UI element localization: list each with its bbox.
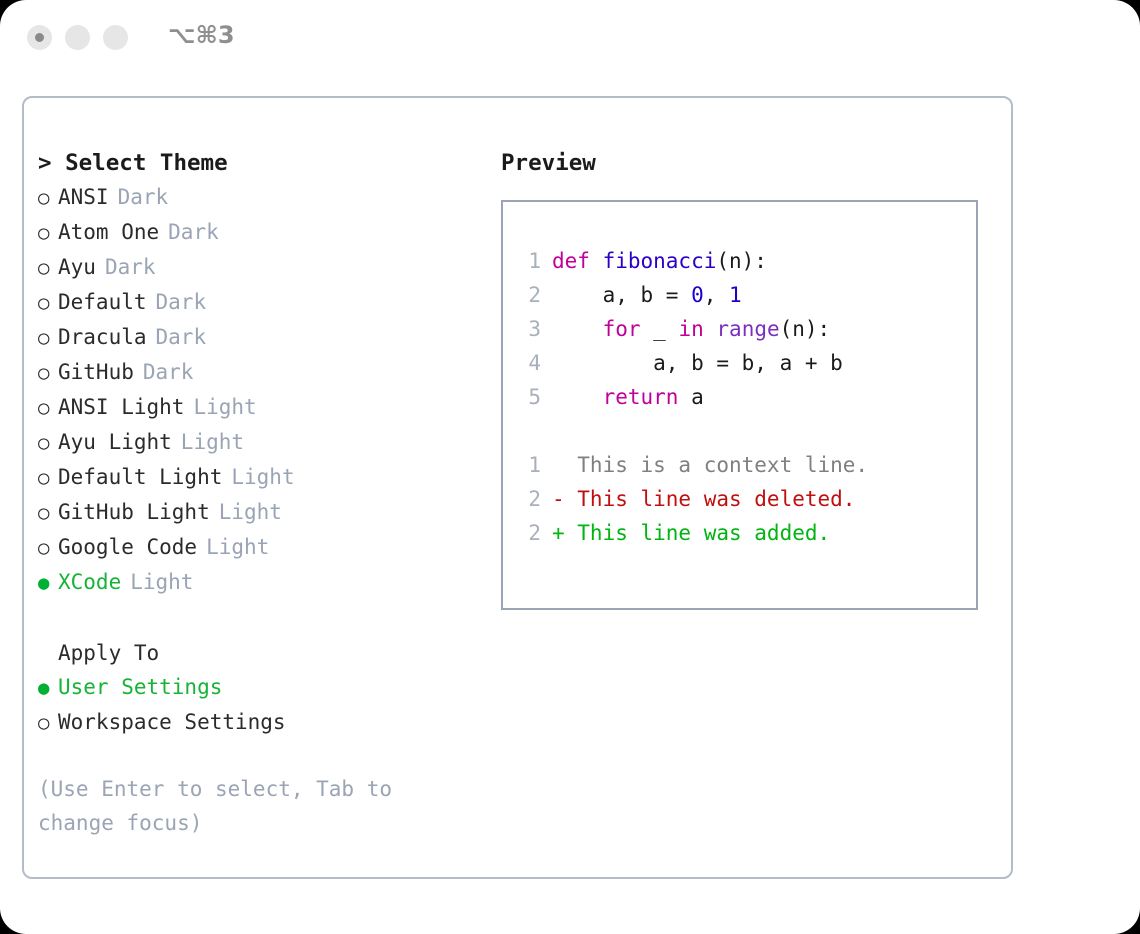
code-token bbox=[552, 380, 603, 414]
code-token bbox=[552, 312, 603, 346]
radio-unselected-icon[interactable]: ○ bbox=[38, 531, 58, 565]
theme-list-item[interactable]: ○Google CodeLight bbox=[38, 530, 478, 565]
apply-to-option-label: User Settings bbox=[58, 670, 222, 704]
theme-name-label: Ayu Light bbox=[58, 425, 172, 459]
code-token: 1 bbox=[729, 278, 742, 312]
theme-list-item[interactable]: ○ANSI LightLight bbox=[38, 390, 478, 425]
theme-variant-tag: Dark bbox=[156, 285, 207, 319]
code-token: _ bbox=[641, 312, 679, 346]
radio-unselected-icon[interactable]: ○ bbox=[38, 286, 58, 320]
diff-line-text: - This line was deleted. bbox=[552, 482, 855, 516]
window-dot-active[interactable] bbox=[27, 25, 52, 50]
keyboard-shortcut-label: ⌥⌘3 bbox=[168, 21, 235, 49]
active-dot-inner bbox=[35, 33, 44, 42]
code-line: 1def fibonacci(n): bbox=[513, 244, 976, 278]
apply-to-section: Apply To ●User Settings○Workspace Settin… bbox=[38, 636, 478, 740]
theme-list-item[interactable]: ○Ayu LightLight bbox=[38, 425, 478, 460]
main-panel: > Select Theme ○ANSIDark○Atom OneDark○Ay… bbox=[22, 96, 1013, 879]
diff-sample: 1 This is a context line.2- This line wa… bbox=[513, 448, 976, 550]
keyboard-hint-line1: (Use Enter to select, Tab to bbox=[38, 772, 438, 806]
radio-selected-icon[interactable]: ● bbox=[38, 671, 58, 705]
theme-list-item[interactable]: ○GitHub LightLight bbox=[38, 495, 478, 530]
theme-list: ○ANSIDark○Atom OneDark○AyuDark○DefaultDa… bbox=[38, 180, 478, 600]
preview-column: Preview 1def fibonacci(n):2 a, b = 0, 13… bbox=[501, 146, 1001, 610]
app-window: ⌥⌘3 > Select Theme ○ANSIDark○Atom OneDar… bbox=[0, 0, 1140, 934]
theme-variant-tag: Light bbox=[206, 530, 269, 564]
code-token: range bbox=[716, 312, 779, 346]
theme-name-label: Google Code bbox=[58, 530, 197, 564]
code-token: , bbox=[704, 278, 729, 312]
theme-list-item[interactable]: ○AyuDark bbox=[38, 250, 478, 285]
radio-unselected-icon[interactable]: ○ bbox=[38, 251, 58, 285]
theme-list-item[interactable]: ○DraculaDark bbox=[38, 320, 478, 355]
theme-name-label: Dracula bbox=[58, 320, 147, 354]
theme-variant-tag: Dark bbox=[143, 355, 194, 389]
radio-unselected-icon[interactable]: ○ bbox=[38, 706, 58, 740]
theme-variant-tag: Light bbox=[231, 460, 294, 494]
theme-variant-tag: Light bbox=[181, 425, 244, 459]
code-token: a, b = bbox=[552, 278, 691, 312]
radio-unselected-icon[interactable]: ○ bbox=[38, 181, 58, 215]
code-token: (n): bbox=[780, 312, 831, 346]
code-line-number: 1 bbox=[513, 244, 541, 278]
theme-variant-tag: Dark bbox=[118, 180, 169, 214]
theme-variant-tag: Light bbox=[193, 390, 256, 424]
code-token: return bbox=[603, 380, 679, 414]
theme-name-label: GitHub Light bbox=[58, 495, 210, 529]
theme-variant-tag: Dark bbox=[156, 320, 207, 354]
radio-unselected-icon[interactable]: ○ bbox=[38, 426, 58, 460]
diff-line-number: 2 bbox=[513, 516, 541, 550]
theme-list-item[interactable]: ○ANSIDark bbox=[38, 180, 478, 215]
window-dot-second[interactable] bbox=[65, 25, 90, 50]
theme-list-item[interactable]: ○DefaultDark bbox=[38, 285, 478, 320]
theme-variant-tag: Light bbox=[219, 495, 282, 529]
theme-name-label: Ayu bbox=[58, 250, 96, 284]
preview-heading: Preview bbox=[501, 146, 1001, 180]
radio-unselected-icon[interactable]: ○ bbox=[38, 356, 58, 390]
radio-unselected-icon[interactable]: ○ bbox=[38, 216, 58, 250]
apply-to-options: ●User Settings○Workspace Settings bbox=[38, 670, 478, 740]
code-token: for bbox=[603, 312, 641, 346]
code-sample: 1def fibonacci(n):2 a, b = 0, 13 for _ i… bbox=[513, 244, 976, 414]
diff-line-number: 1 bbox=[513, 448, 541, 482]
theme-variant-tag: Light bbox=[130, 565, 193, 599]
keyboard-hint: (Use Enter to select, Tab to change focu… bbox=[38, 772, 438, 840]
code-token: a, b = b, a + b bbox=[552, 346, 843, 380]
window-controls bbox=[27, 25, 128, 50]
theme-list-item[interactable]: ○Default LightLight bbox=[38, 460, 478, 495]
theme-list-item[interactable]: ●XCodeLight bbox=[38, 565, 478, 600]
code-spacer bbox=[513, 414, 976, 448]
theme-name-label: ANSI bbox=[58, 180, 109, 214]
code-line-number: 5 bbox=[513, 380, 541, 414]
diff-line-text: This is a context line. bbox=[552, 448, 868, 482]
code-token bbox=[704, 312, 717, 346]
code-line-number: 3 bbox=[513, 312, 541, 346]
code-token: (n): bbox=[716, 244, 767, 278]
window-dot-third[interactable] bbox=[103, 25, 128, 50]
radio-selected-icon[interactable]: ● bbox=[38, 566, 58, 600]
radio-unselected-icon[interactable]: ○ bbox=[38, 461, 58, 495]
diff-line: 1 This is a context line. bbox=[513, 448, 976, 482]
radio-unselected-icon[interactable]: ○ bbox=[38, 391, 58, 425]
code-token: 0 bbox=[691, 278, 704, 312]
window-titlebar: ⌥⌘3 bbox=[0, 0, 1140, 78]
code-line-number: 4 bbox=[513, 346, 541, 380]
diff-line: 2+ This line was added. bbox=[513, 516, 976, 550]
code-line-number: 2 bbox=[513, 278, 541, 312]
theme-name-label: XCode bbox=[58, 565, 121, 599]
theme-name-label: Default Light bbox=[58, 460, 222, 494]
apply-to-heading: Apply To bbox=[38, 636, 478, 670]
code-line: 3 for _ in range(n): bbox=[513, 312, 976, 346]
theme-name-label: GitHub bbox=[58, 355, 134, 389]
theme-name-label: ANSI Light bbox=[58, 390, 184, 424]
diff-line: 2- This line was deleted. bbox=[513, 482, 976, 516]
theme-list-item[interactable]: ○Atom OneDark bbox=[38, 215, 478, 250]
radio-unselected-icon[interactable]: ○ bbox=[38, 321, 58, 355]
theme-name-label: Atom One bbox=[58, 215, 159, 249]
code-line: 5 return a bbox=[513, 380, 976, 414]
code-token: fibonacci bbox=[603, 244, 717, 278]
theme-variant-tag: Dark bbox=[168, 215, 219, 249]
theme-name-label: Default bbox=[58, 285, 147, 319]
keyboard-hint-line2: change focus) bbox=[38, 806, 438, 840]
code-token: a bbox=[678, 380, 703, 414]
theme-list-item[interactable]: ○GitHubDark bbox=[38, 355, 478, 390]
select-theme-heading: > Select Theme bbox=[38, 146, 478, 180]
preview-box: 1def fibonacci(n):2 a, b = 0, 13 for _ i… bbox=[501, 200, 978, 610]
radio-unselected-icon[interactable]: ○ bbox=[38, 496, 58, 530]
diff-line-number: 2 bbox=[513, 482, 541, 516]
code-line: 2 a, b = 0, 1 bbox=[513, 278, 976, 312]
code-line: 4 a, b = b, a + b bbox=[513, 346, 976, 380]
apply-to-option[interactable]: ○Workspace Settings bbox=[38, 705, 478, 740]
diff-line-text: + This line was added. bbox=[552, 516, 830, 550]
code-token: in bbox=[678, 312, 703, 346]
theme-variant-tag: Dark bbox=[105, 250, 156, 284]
apply-to-option-label: Workspace Settings bbox=[58, 705, 286, 739]
apply-to-option[interactable]: ●User Settings bbox=[38, 670, 478, 705]
theme-picker-column: > Select Theme ○ANSIDark○Atom OneDark○Ay… bbox=[38, 146, 478, 840]
code-token: def bbox=[552, 244, 603, 278]
